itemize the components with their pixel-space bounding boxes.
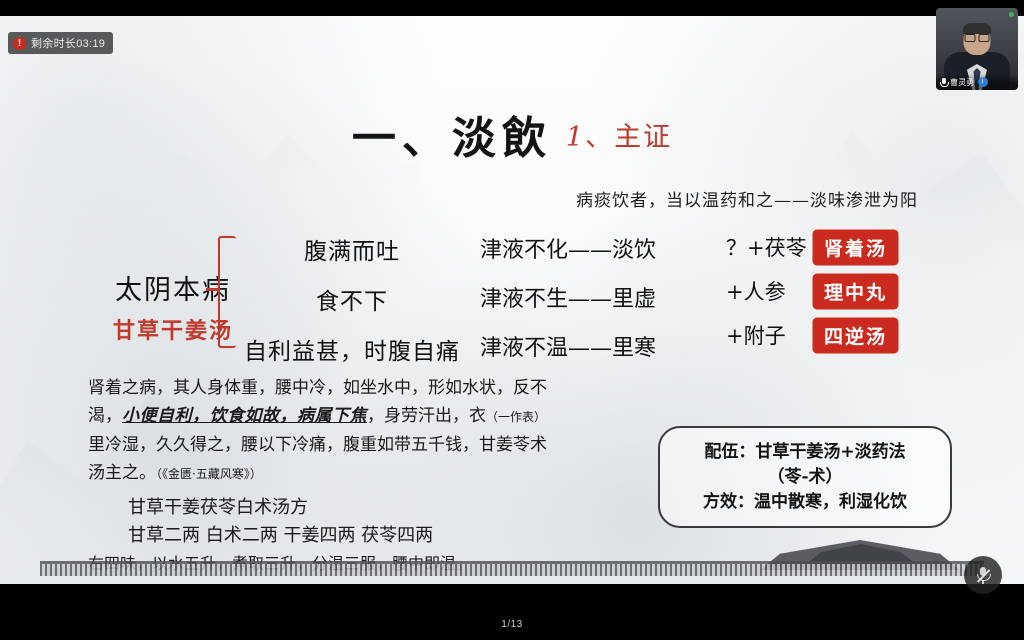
microphone-muted-button[interactable] (964, 556, 1002, 594)
meeting-screen-share-window: 一、淡飲1、主证 病痰饮者，当以温药和之——淡味渗泄为阳 太阴本病 甘草干姜汤 … (0, 0, 1024, 640)
diagram-column-formulas: ？+茯苓 肾着汤 +人参 理中丸 +附子 四逆汤 (726, 228, 936, 354)
prescription-preparation: 右四味，以水五升，煮取三升，分温三服，腰中即温。 (88, 550, 472, 574)
diagram-column-symptoms: 腹满而吐 食不下 自利益甚，时腹自痛 (232, 228, 472, 366)
formula-pill: 理中丸 (814, 275, 897, 308)
note-line-effect: 方效：温中散寒，利湿化饮 (703, 490, 907, 515)
quotation-segment: ，身劳汗出，衣 (367, 406, 486, 426)
mechanism-item: 津液不化——淡饮 (480, 232, 700, 264)
prescription-ingredients: 甘草二两 白术二两 干姜四两 茯苓四两 (128, 522, 433, 550)
slide-title-main: 一、淡飲 (352, 113, 552, 164)
prescription-name: 甘草干姜茯苓白术汤方 (128, 494, 433, 522)
symptom-item: 自利益甚，时腹自痛 (232, 332, 472, 366)
roof-shape (760, 540, 960, 570)
avatar-glasses (965, 33, 990, 40)
slide-title-sub: 1、主证 (566, 122, 672, 153)
remaining-time-badge: ! 剩余时长03:19 (8, 32, 113, 54)
slide-title-sub-text: 、主证 (585, 122, 672, 153)
microphone-icon (940, 78, 947, 87)
roof-shape-upper (806, 544, 916, 564)
note-line-composition: 配伍：甘草干姜汤+淡药法 (704, 440, 905, 465)
formula-row: ？+茯苓 肾着汤 (726, 228, 936, 266)
syndrome-diagram: 太阴本病 甘草干姜汤 腹满而吐 食不下 自利益甚，时腹自痛 津液不化——淡饮 津… (0, 228, 1024, 358)
remaining-time-label: 剩余时长03:19 (31, 35, 105, 51)
symptom-item: 腹满而吐 (232, 232, 472, 266)
formula-pill: 四逆汤 (814, 319, 897, 352)
quotation-line: 肾着之病，其人身体重，腰中冷，如坐水中，形如水状，反不 (88, 374, 568, 402)
formula-pill: 肾着汤 (814, 231, 897, 264)
slide-title: 一、淡飲1、主证 (0, 102, 1024, 166)
info-badge-icon: i (978, 77, 988, 87)
red-bracket-tick (206, 288, 220, 291)
participant-name-bar: 曹灵勇 i (936, 74, 1018, 90)
prescription-block: 甘草干姜茯苓白术汤方 甘草二两 白术二两 干姜四两 茯苓四两 (128, 494, 433, 550)
slide-canvas: 一、淡飲1、主证 病痰饮者，当以温药和之——淡味渗泄为阳 太阴本病 甘草干姜汤 … (0, 16, 1024, 584)
formula-row: +人参 理中丸 (726, 272, 936, 310)
formula-modifier: +附子 (726, 320, 814, 350)
formula-modifier: +人参 (726, 276, 814, 306)
quotation-line: 里冷湿，久久得之，腰以下冷痛，腹重如带五千钱，甘姜苓术 (88, 431, 568, 459)
mechanism-item: 津液不生——里虚 (480, 281, 700, 313)
page-indicator: 1/13 (0, 619, 1024, 630)
quotation-segment: 汤主之。 (88, 463, 156, 483)
quotation-line: 渴，小便自利，饮食如故，病属下焦，身劳汗出，衣（一作表） (88, 402, 568, 431)
symptom-item: 食不下 (232, 282, 472, 316)
slide-epigraph: 病痰饮者，当以温药和之——淡味渗泄为阳 (576, 186, 918, 211)
railing-base (40, 576, 984, 584)
mechanism-item: 津液不温——里寒 (480, 330, 700, 362)
quotation-source: （《金匮·五藏风寒》） (156, 467, 262, 481)
quotation-emphasis: 小便自利，饮食如故，病属下焦 (122, 406, 367, 426)
note-line-composition-detail: （苓-术） (767, 465, 842, 490)
summary-note-box: 配伍：甘草干姜汤+淡药法 （苓-术） 方效：温中散寒，利湿化饮 (658, 426, 952, 528)
microphone-muted-icon (977, 567, 989, 584)
formula-modifier: ？+茯苓 (726, 232, 814, 262)
formula-row: +附子 四逆汤 (726, 316, 936, 354)
participant-video-tile[interactable]: 曹灵勇 i (936, 8, 1018, 90)
quotation-segment: 渴， (88, 406, 122, 426)
quotation-annotation: （一作表） (486, 410, 546, 424)
status-indicator-dot (1009, 12, 1014, 17)
classic-quotation-text: 肾着之病，其人身体重，腰中冷，如坐水中，形如水状，反不 渴，小便自利，饮食如故，… (88, 374, 568, 488)
diagram-column-mechanism: 津液不化——淡饮 津液不生——里虚 津液不温——里寒 (480, 228, 700, 362)
quotation-line: 汤主之。（《金匮·五藏风寒》） (88, 459, 568, 488)
alert-circle-icon: ! (13, 37, 26, 50)
slide-title-sub-number: 1 (566, 122, 585, 153)
participant-name-label: 曹灵勇 (950, 77, 975, 88)
